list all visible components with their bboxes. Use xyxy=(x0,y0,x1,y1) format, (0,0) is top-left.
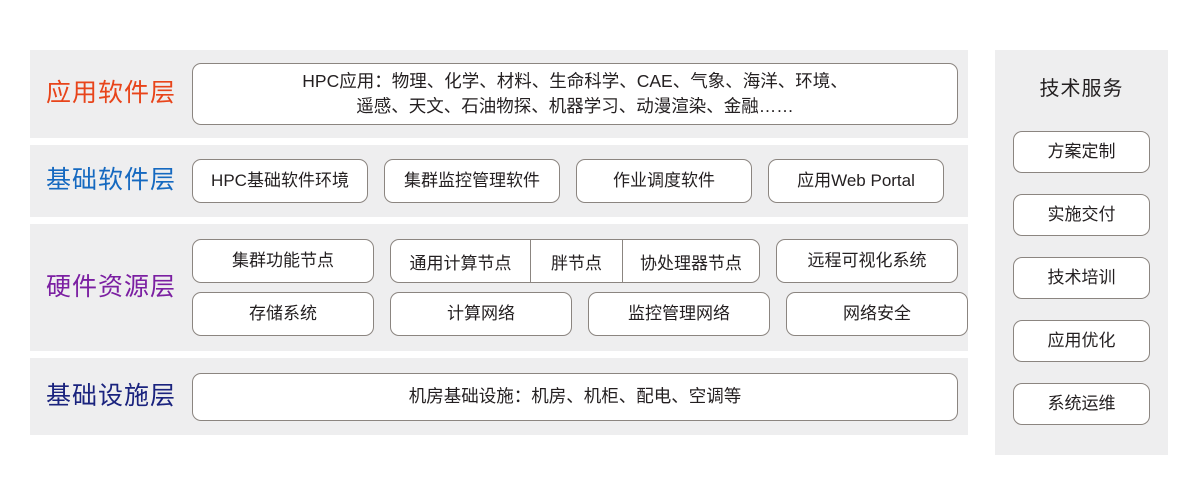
layer-band-application: 应用软件层 HPC应用：物理、化学、材料、生命科学、CAE、气象、海洋、环境、 … xyxy=(30,50,968,138)
layer-body-hardware: 集群功能节点 通用计算节点 胖节点 协处理器节点 远程可视化系统 存储系统 计算… xyxy=(192,239,980,336)
service-box-system-operations[interactable]: 系统运维 xyxy=(1013,383,1150,425)
box-job-scheduling-software[interactable]: 作业调度软件 xyxy=(576,159,752,203)
service-box-application-optimization[interactable]: 应用优化 xyxy=(1013,320,1150,362)
infrastructure-row: 机房基础设施：机房、机柜、配电、空调等 xyxy=(192,373,958,421)
layer-body-base-software: HPC基础软件环境 集群监控管理软件 作业调度软件 应用Web Portal xyxy=(192,159,968,203)
box-datacenter-infrastructure: 机房基础设施：机房、机柜、配电、空调等 xyxy=(192,373,958,421)
layer-stack: 应用软件层 HPC应用：物理、化学、材料、生命科学、CAE、气象、海洋、环境、 … xyxy=(30,50,968,455)
box-management-monitoring-network[interactable]: 监控管理网络 xyxy=(588,292,770,336)
layer-label-infrastructure: 基础设施层 xyxy=(30,383,192,411)
application-row: HPC应用：物理、化学、材料、生命科学、CAE、气象、海洋、环境、 遥感、天文、… xyxy=(192,63,958,125)
application-content-box: HPC应用：物理、化学、材料、生命科学、CAE、气象、海洋、环境、 遥感、天文、… xyxy=(192,63,958,125)
hardware-row-1: 集群功能节点 通用计算节点 胖节点 协处理器节点 远程可视化系统 xyxy=(192,239,968,283)
box-compute-network[interactable]: 计算网络 xyxy=(390,292,572,336)
service-box-implementation-delivery[interactable]: 实施交付 xyxy=(1013,194,1150,236)
technical-services-panel: 技术服务 方案定制 实施交付 技术培训 应用优化 系统运维 xyxy=(995,50,1168,455)
box-cluster-monitoring-software[interactable]: 集群监控管理软件 xyxy=(384,159,560,203)
technical-services-title: 技术服务 xyxy=(1040,72,1124,101)
layer-body-application: HPC应用：物理、化学、材料、生命科学、CAE、气象、海洋、环境、 遥感、天文、… xyxy=(192,63,970,125)
box-network-security[interactable]: 网络安全 xyxy=(786,292,968,336)
layer-label-hardware: 硬件资源层 xyxy=(30,274,192,302)
layer-label-application: 应用软件层 xyxy=(30,80,192,108)
box-application-web-portal[interactable]: 应用Web Portal xyxy=(768,159,944,203)
hardware-row-2: 存储系统 计算网络 监控管理网络 网络安全 xyxy=(192,292,968,336)
box-hpc-base-software-environment[interactable]: HPC基础软件环境 xyxy=(192,159,368,203)
service-box-technical-training[interactable]: 技术培训 xyxy=(1013,257,1150,299)
application-line-2: 遥感、天文、石油物探、机器学习、动漫渲染、金融…… xyxy=(302,94,847,119)
segment-general-compute-node[interactable]: 通用计算节点 xyxy=(391,240,531,282)
segment-fat-node[interactable]: 胖节点 xyxy=(531,240,623,282)
base-software-row: HPC基础软件环境 集群监控管理软件 作业调度软件 应用Web Portal xyxy=(192,159,956,203)
layer-body-infrastructure: 机房基础设施：机房、机柜、配电、空调等 xyxy=(192,373,970,421)
layer-band-hardware: 硬件资源层 集群功能节点 通用计算节点 胖节点 协处理器节点 远程可视化系统 存… xyxy=(30,224,968,351)
hpc-architecture-diagram: 应用软件层 HPC应用：物理、化学、材料、生命科学、CAE、气象、海洋、环境、 … xyxy=(0,0,1200,500)
service-box-solution-customization[interactable]: 方案定制 xyxy=(1013,131,1150,173)
application-line-1: HPC应用：物理、化学、材料、生命科学、CAE、气象、海洋、环境、 xyxy=(302,69,847,94)
box-remote-visualization-system[interactable]: 远程可视化系统 xyxy=(776,239,958,283)
box-compute-node-group: 通用计算节点 胖节点 协处理器节点 xyxy=(390,239,760,283)
box-cluster-function-node[interactable]: 集群功能节点 xyxy=(192,239,374,283)
segment-coprocessor-node[interactable]: 协处理器节点 xyxy=(623,240,759,282)
box-storage-system[interactable]: 存储系统 xyxy=(192,292,374,336)
layer-band-infrastructure: 基础设施层 机房基础设施：机房、机柜、配电、空调等 xyxy=(30,358,968,435)
layer-label-base-software: 基础软件层 xyxy=(30,167,192,195)
layer-band-base-software: 基础软件层 HPC基础软件环境 集群监控管理软件 作业调度软件 应用Web Po… xyxy=(30,145,968,217)
